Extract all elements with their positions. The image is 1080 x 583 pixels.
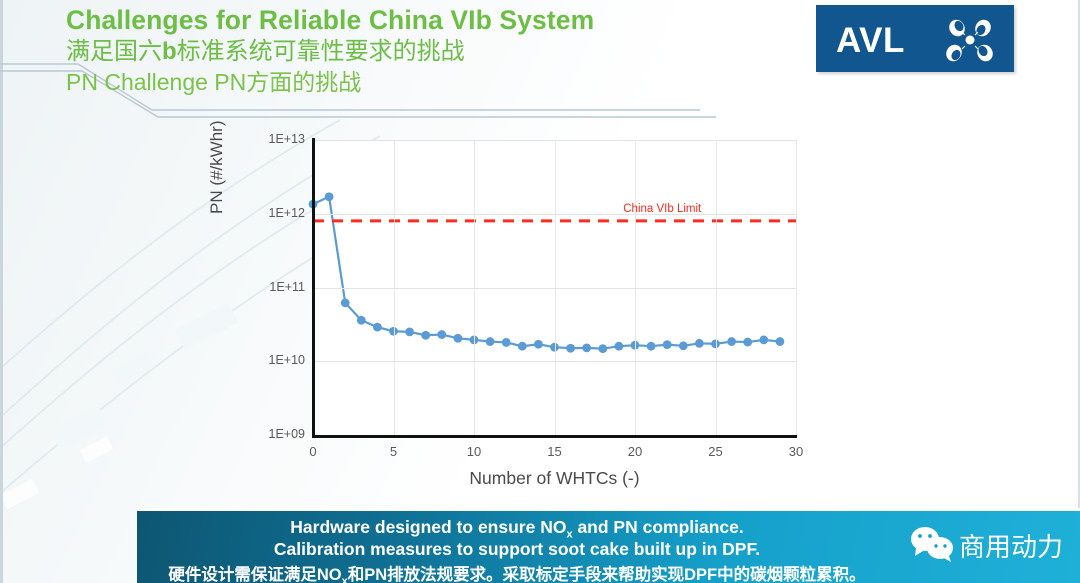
slide-canvas: Challenges for Reliable China VIb System… xyxy=(0,0,1080,583)
chart-data-point xyxy=(486,337,495,346)
banner-line-1: Hardware designed to ensure NOx and PN c… xyxy=(137,517,897,541)
chart-data-point xyxy=(679,341,688,350)
chart-data-point xyxy=(695,339,704,348)
chart-data-point xyxy=(518,342,527,351)
chart-data-point xyxy=(341,298,350,307)
wechat-brand: 商用动力 xyxy=(909,525,1079,569)
chart-y-tick-label: 1E+09 xyxy=(237,427,305,441)
chart-data-point xyxy=(566,344,575,353)
banner-line3-c: 和 xyxy=(348,566,365,583)
chart-y-tick-label: 1E+10 xyxy=(237,353,305,367)
chart-data-point xyxy=(598,344,607,353)
wechat-icon xyxy=(909,525,955,563)
banner-line1-a: Hardware designed to ensure NO xyxy=(290,517,566,537)
chart-y-tick-label: 1E+13 xyxy=(237,132,305,146)
avl-logo: AVL xyxy=(816,5,1014,72)
chart-y-axis-title: PN (#/kWhr) xyxy=(207,121,227,215)
chart-data-point xyxy=(727,337,736,346)
banner-line-2: Calibration measures to support soot cak… xyxy=(137,539,897,560)
chart-x-tick-label: 20 xyxy=(615,444,655,459)
chart-data-point xyxy=(743,338,752,347)
chart-data-point xyxy=(615,342,624,351)
chart-data-point xyxy=(502,338,511,347)
title-cn-pre: 满足国六 xyxy=(66,38,162,65)
chart-x-tick-label: 10 xyxy=(454,444,494,459)
chart-x-tick-label: 5 xyxy=(374,444,414,459)
chart-data-point xyxy=(647,342,656,351)
chart-y-tick-label: 1E+11 xyxy=(237,280,305,294)
chart-data-point xyxy=(421,331,430,340)
chart-plot-area xyxy=(313,140,796,435)
banner-line3-f: DPF xyxy=(684,566,717,583)
chart-data-point xyxy=(405,328,414,337)
chart-data-point xyxy=(357,316,366,325)
banner-line3-g: 中的碳烟颗粒累积。 xyxy=(717,566,866,583)
chart-gridline-vertical xyxy=(716,140,717,435)
wechat-label: 商用动力 xyxy=(959,527,1063,564)
chart-data-point xyxy=(776,337,785,346)
chart-x-tick-label: 15 xyxy=(535,444,575,459)
avl-impeller-icon xyxy=(940,15,1000,67)
chart-gridline-vertical xyxy=(796,140,797,435)
banner-line3-d: PN xyxy=(364,566,387,583)
chart-x-axis-title: Number of WHTCs (-) xyxy=(313,468,796,489)
chart-x-tick-label: 25 xyxy=(696,444,736,459)
banner-line-3: 硬件设计需保证满足NOx和PN排放法规要求。采取标定手段来帮助实现DPF中的碳烟… xyxy=(137,561,897,583)
banner-line3-e: 排放法规要求。采取标定手段来帮助实现 xyxy=(387,566,684,583)
title-block: Challenges for Reliable China VIb System… xyxy=(66,4,766,98)
page-subtitle: PN Challenge PN方面的挑战 xyxy=(66,67,766,98)
chart-limit-label: China VIb Limit xyxy=(623,203,701,215)
chart-data-point xyxy=(759,335,768,344)
chart-x-tick-label: 30 xyxy=(776,444,816,459)
chart-gridline-vertical xyxy=(394,140,395,435)
chart-x-tick-label: 0 xyxy=(293,444,333,459)
chart-data-point xyxy=(373,323,382,332)
page-title: Challenges for Reliable China VIb System xyxy=(66,4,766,36)
page-title-chinese: 满足国六b标准系统可靠性要求的挑战 xyxy=(66,36,766,67)
chart-gridline-vertical xyxy=(635,140,636,435)
banner-line3-b: NO xyxy=(317,566,342,583)
chart-gridline-vertical xyxy=(555,140,556,435)
chart-x-axis-line xyxy=(312,435,797,438)
chart-gridline-vertical xyxy=(474,140,475,435)
chart-y-tick-label: 1E+12 xyxy=(237,206,305,220)
chart-data-point xyxy=(663,340,672,349)
banner-line3-a: 硬件设计需保证满足 xyxy=(168,566,317,583)
avl-logo-text: AVL xyxy=(836,21,905,61)
chart-data-point xyxy=(454,334,463,343)
summary-banner: Hardware designed to ensure NOx and PN c… xyxy=(137,511,1080,583)
chart-data-point xyxy=(437,330,446,339)
title-cn-post: 标准系统可靠性要求的挑战 xyxy=(177,38,465,65)
title-cn-bold: b xyxy=(162,38,177,65)
chart-data-point xyxy=(582,343,591,352)
banner-line1-b: and PN compliance. xyxy=(573,517,744,537)
chart-data-point xyxy=(325,192,334,201)
pn-chart: PN (#/kWhr) 1E+091E+101E+111E+121E+13 05… xyxy=(215,122,815,507)
chart-data-point xyxy=(534,340,543,349)
chart-y-axis-line xyxy=(312,138,315,438)
